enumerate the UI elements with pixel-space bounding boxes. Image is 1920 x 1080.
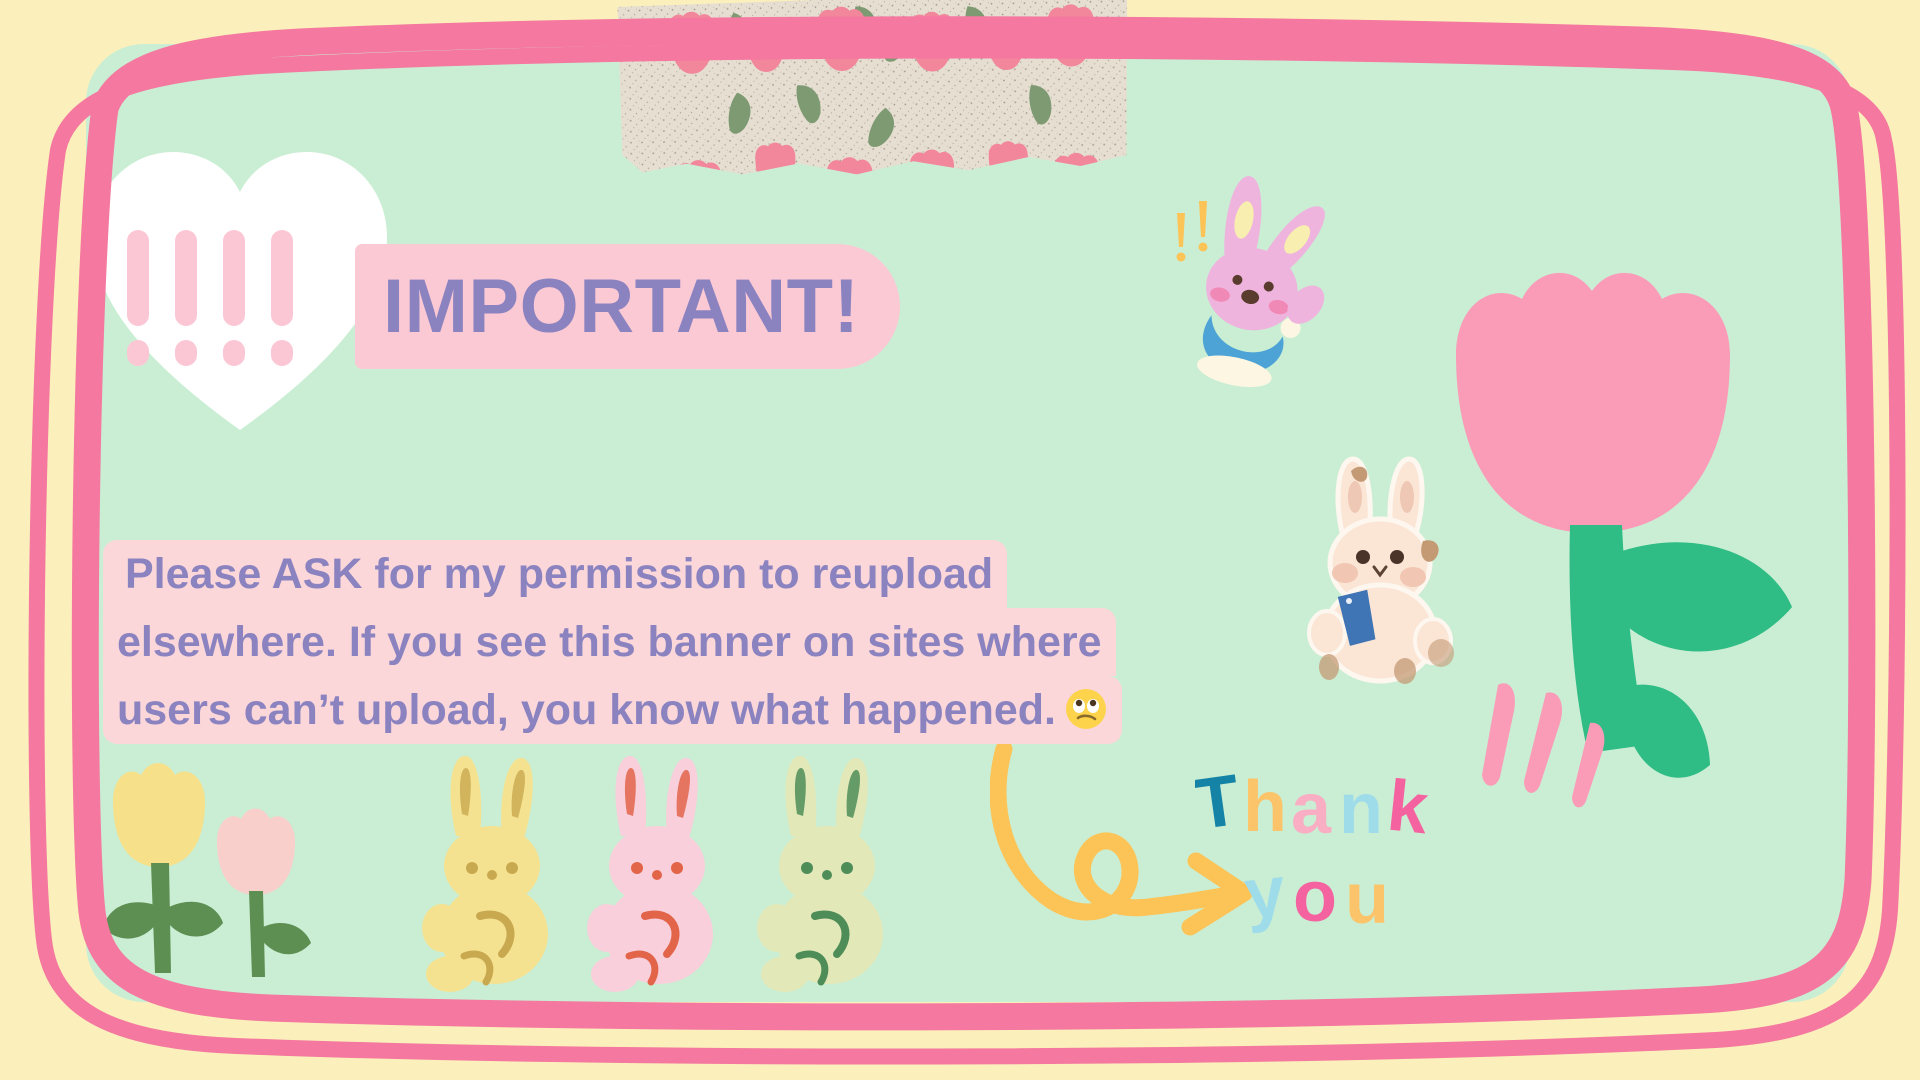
svg-text:o: o [1293, 857, 1337, 937]
svg-text:a: a [1291, 769, 1332, 849]
svg-text:u: u [1345, 859, 1389, 939]
svg-text:k: k [1384, 766, 1433, 850]
svg-text:n: n [1339, 769, 1383, 849]
notice-line-3-wrap: users can’t upload, you know what happen… [103, 676, 1122, 744]
notice-line-1: Please ASK for my permission to reupload [103, 540, 1007, 608]
white-heart-with-exclamations [85, 130, 395, 440]
banner-canvas: IMPORTANT! Please ASK for my permission … [0, 0, 1920, 1080]
notice-line-3: users can’t upload, you know what happen… [117, 686, 1056, 734]
pink-painted-bunny [1155, 165, 1385, 425]
important-banner: IMPORTANT! [355, 244, 900, 369]
page-title: IMPORTANT! [383, 269, 859, 345]
notice-line-2: elsewhere. If you see this banner on sit… [103, 608, 1116, 676]
small-tulip-pair [95, 755, 345, 985]
svg-text:y: y [1241, 851, 1289, 935]
thank-you-lettering: T h a n k y o u [1195, 755, 1505, 955]
svg-text:T: T [1195, 760, 1245, 845]
svg-text:h: h [1243, 767, 1287, 847]
tulip-washi-tape [615, 0, 1133, 182]
gummy-bunny-green [745, 748, 920, 993]
large-pink-tulip [1440, 255, 1830, 815]
face-with-rolling-eyes-icon [1064, 687, 1108, 731]
gummy-bunny-pink [575, 748, 750, 993]
notice-text-block: Please ASK for my permission to reupload… [103, 540, 1143, 744]
gummy-bunny-yellow [410, 748, 585, 993]
